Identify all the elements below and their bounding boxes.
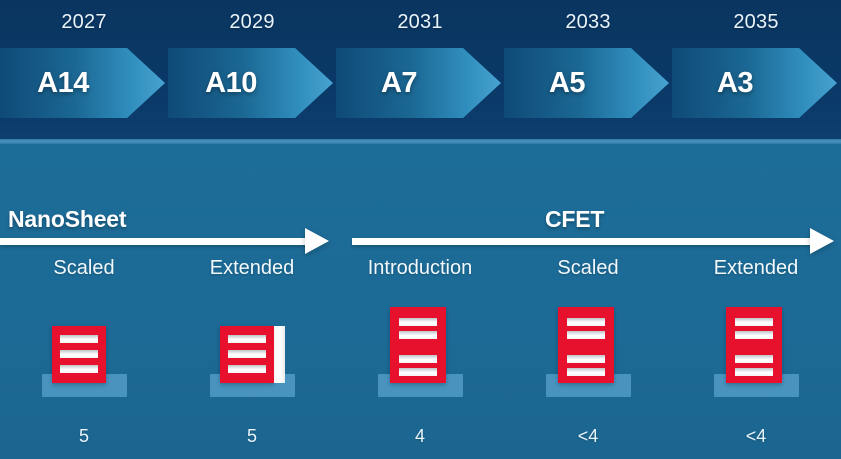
node-chevron-label-3: A5: [504, 48, 630, 118]
cfet-right-arrow-icon: [810, 228, 834, 254]
node-chevron-a3[interactable]: A3: [672, 48, 837, 118]
cfet-stack-icon: [726, 307, 782, 383]
metric-value-3: <4: [504, 424, 672, 448]
cfet-fin-icon: [399, 331, 437, 339]
device-cell-2: [336, 300, 504, 415]
cfet-fin-icon: [735, 355, 773, 363]
technology-label-nanosheet: NanoSheet: [8, 206, 126, 233]
stage-caption-0: Scaled: [0, 255, 168, 281]
technology-label-cfet: CFET: [545, 206, 604, 233]
nanosheet-stack-icon: [52, 326, 106, 383]
nanosheet-fin-icon: [228, 350, 266, 358]
year-label-3: 2033: [504, 8, 672, 36]
nanosheet-right-arrow-icon: [305, 228, 329, 254]
node-chevron-row: A14 A10 A7 A5 A3: [0, 48, 841, 118]
cfet-fin-icon: [399, 368, 437, 376]
node-chevron-label-0: A14: [0, 48, 126, 118]
cfet-fin-icon: [567, 368, 605, 376]
node-chevron-label-4: A3: [672, 48, 798, 118]
stage-caption-1: Extended: [168, 255, 336, 281]
vertical-gate-icon: [274, 326, 285, 383]
cfet-fin-icon: [567, 318, 605, 326]
metric-value-2: 4: [336, 424, 504, 448]
stage-caption-3: Scaled: [504, 255, 672, 281]
device-cell-0: [0, 300, 168, 415]
nanosheet-fin-icon: [60, 365, 98, 373]
device-cell-1: [168, 300, 336, 415]
year-label-0: 2027: [0, 8, 168, 36]
year-label-2: 2031: [336, 8, 504, 36]
stage-caption-2: Introduction: [336, 255, 504, 281]
nanosheet-stack-vertical-gate-icon: [220, 326, 274, 383]
cfet-fin-icon: [735, 318, 773, 326]
year-label-1: 2029: [168, 8, 336, 36]
nanosheet-fin-icon: [228, 335, 266, 343]
node-chevron-a10[interactable]: A10: [168, 48, 333, 118]
cfet-fin-icon: [735, 331, 773, 339]
nanosheet-fin-icon: [60, 350, 98, 358]
nanosheet-arrow-line: [0, 238, 308, 245]
cfet-fin-icon: [399, 355, 437, 363]
cfet-fin-icon: [567, 355, 605, 363]
nanosheet-fin-icon: [228, 365, 266, 373]
cfet-fin-icon: [735, 368, 773, 376]
cfet-stack-icon: [558, 307, 614, 383]
nanosheet-fin-icon: [60, 335, 98, 343]
metric-value-1: 5: [168, 424, 336, 448]
node-chevron-a7[interactable]: A7: [336, 48, 501, 118]
stage-caption-4: Extended: [672, 255, 840, 281]
device-cell-4: [672, 300, 840, 415]
cfet-stack-icon: [390, 307, 446, 383]
node-chevron-label-1: A10: [168, 48, 294, 118]
year-row: 2027 2029 2031 2033 2035: [0, 8, 841, 42]
metric-value-0: 5: [0, 424, 168, 448]
node-chevron-label-2: A7: [336, 48, 462, 118]
node-chevron-a5[interactable]: A5: [504, 48, 669, 118]
device-cell-3: [504, 300, 672, 415]
node-chevron-a14[interactable]: A14: [0, 48, 165, 118]
cfet-arrow-line: [352, 238, 812, 245]
cfet-fin-icon: [399, 318, 437, 326]
technology-roadmap: 2027 2029 2031 2033 2035 A14 A10 A7 A5 A…: [0, 0, 841, 459]
year-label-4: 2035: [672, 8, 840, 36]
metric-value-4: <4: [672, 424, 840, 448]
cfet-fin-icon: [567, 331, 605, 339]
